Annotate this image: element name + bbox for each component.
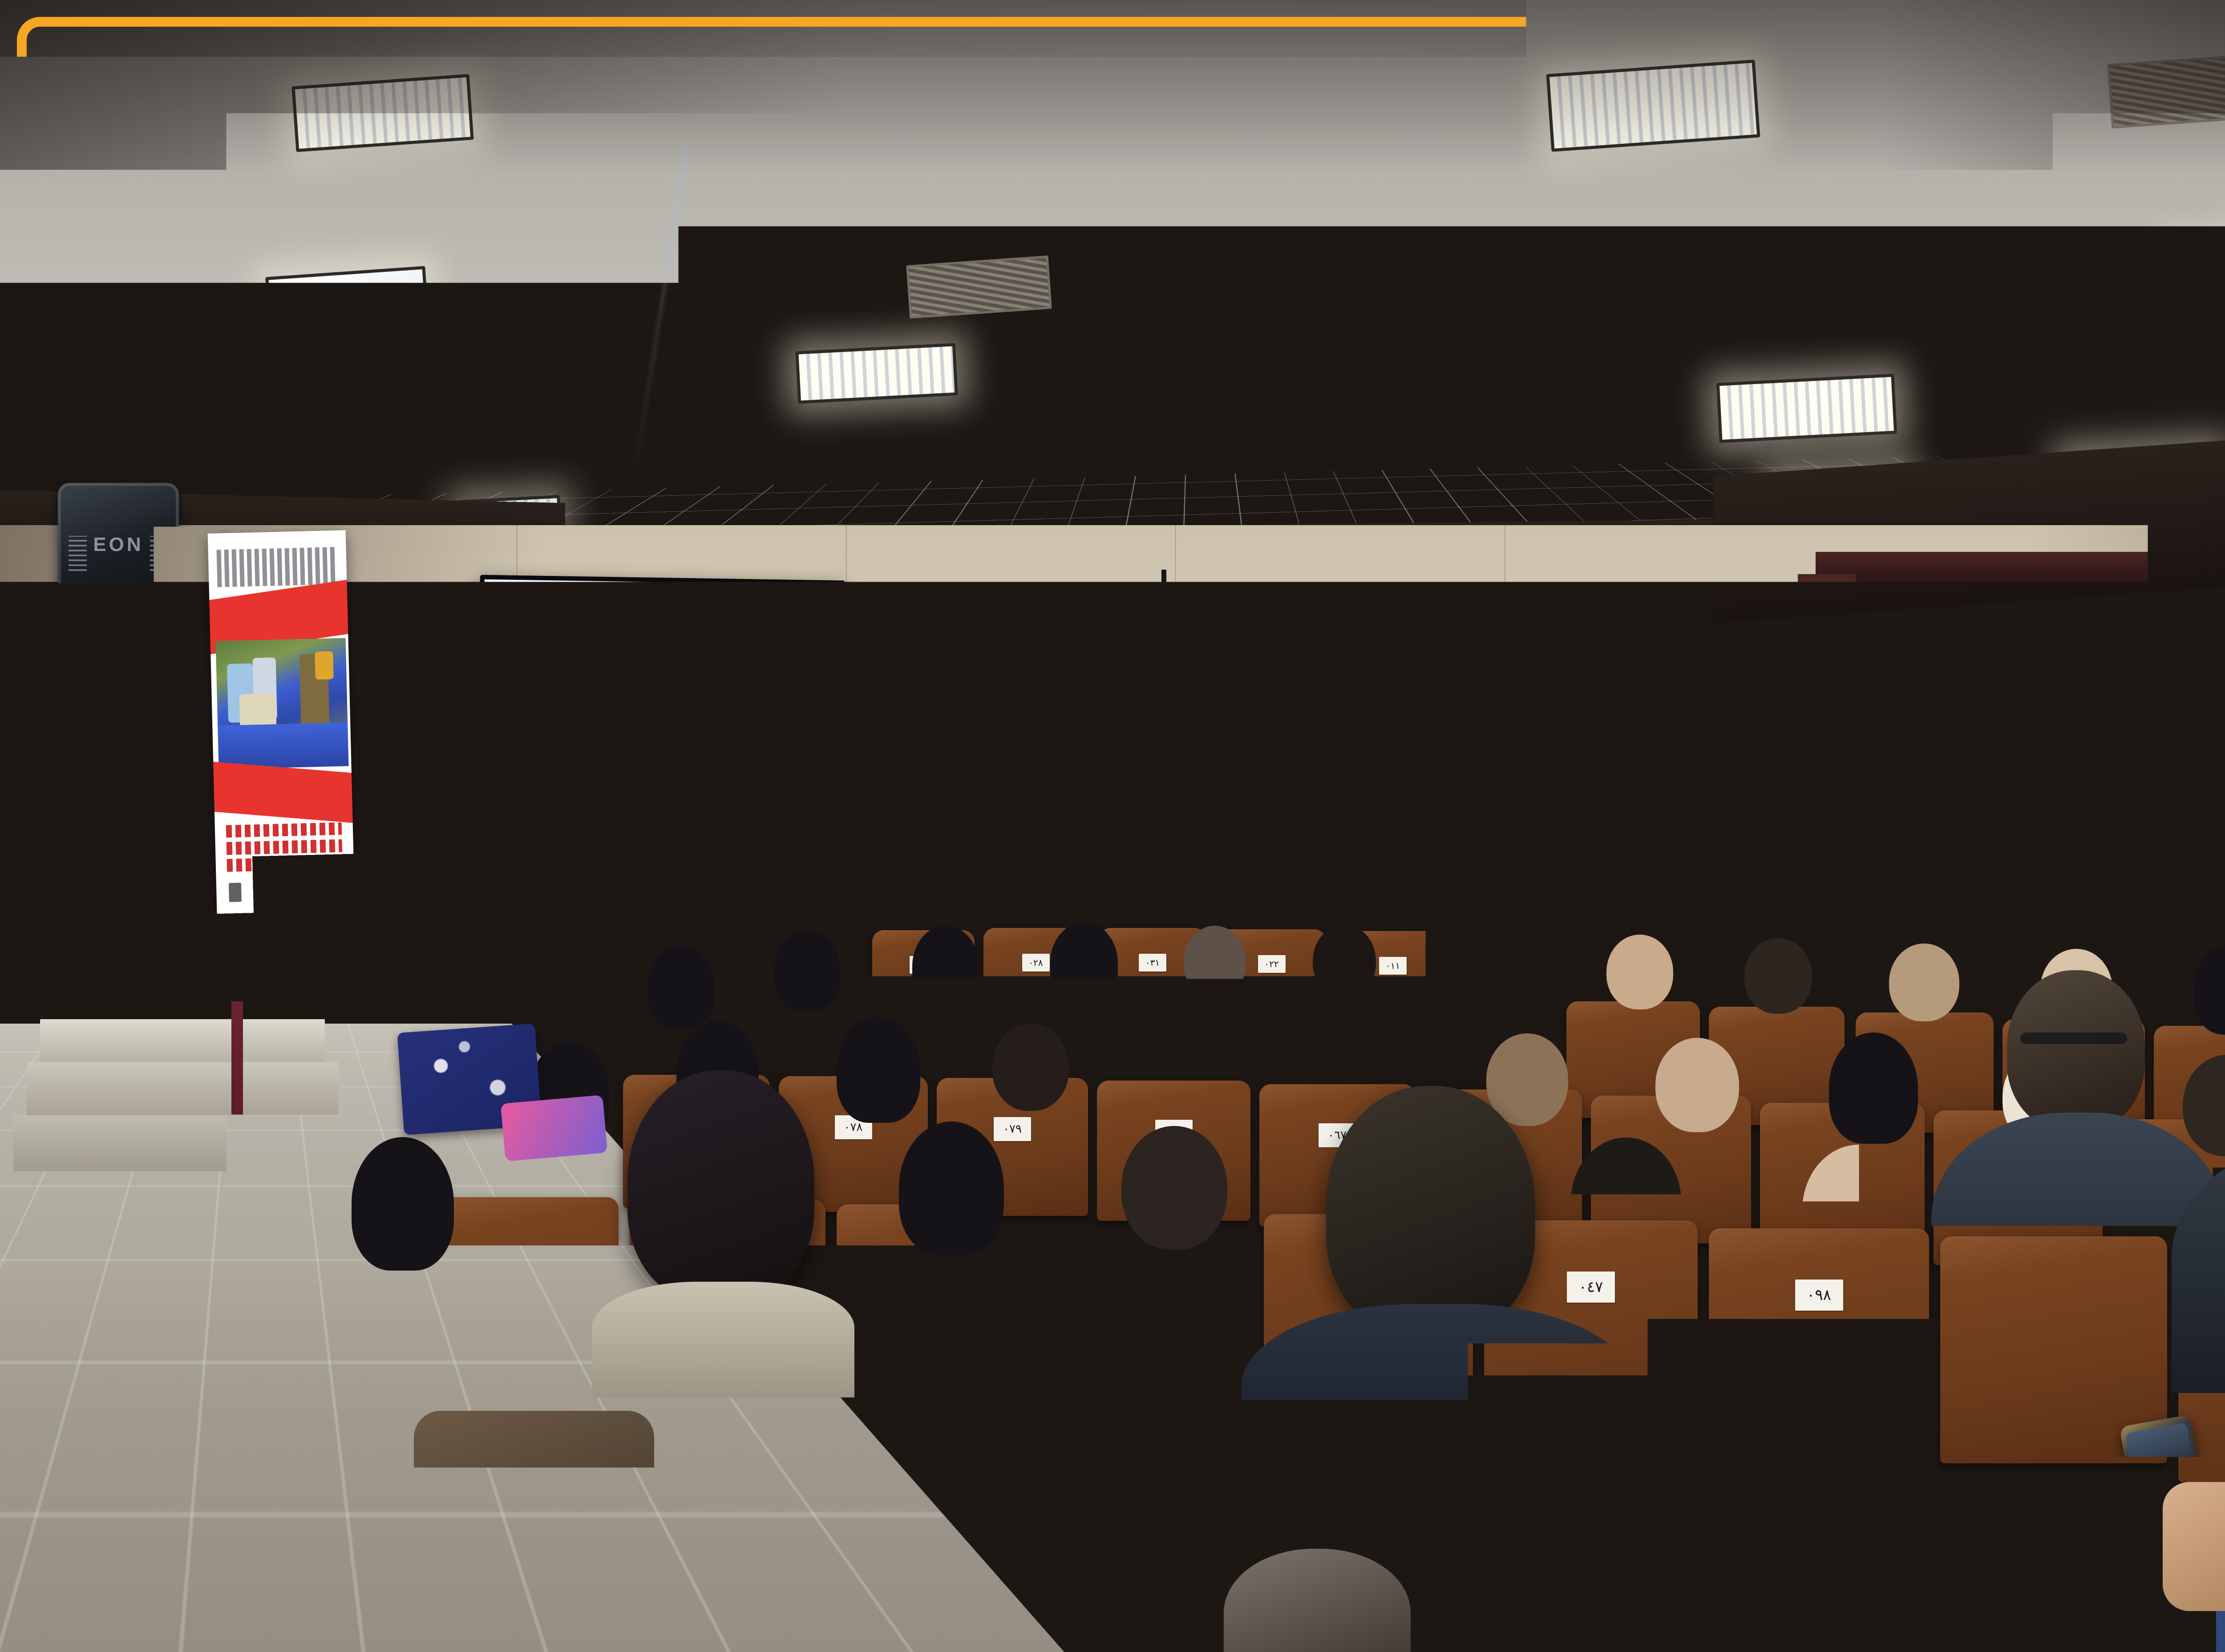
audience-head [828,866,874,919]
seat-number-tag: ٠٥٤ [1064,1019,1095,1040]
foreground-attendee-head [2007,970,2145,1130]
fan-hub [1917,792,1930,808]
speaker-vent [150,536,168,571]
jbl-badge-icon [109,607,128,616]
screen-person-body [502,726,660,794]
screen-person-body [1572,711,1656,761]
seat-number-tag: ٠٢٨ [1022,954,1050,972]
screen-person-head [1584,660,1634,716]
seat-number-tag: ٠٨٤ [1126,1260,1174,1291]
foreground-attendee-head [1326,1086,1535,1335]
audience-headscarf [1050,922,1118,1004]
banner-contact-line [237,924,336,933]
screen-person-body [673,704,838,794]
stage-step [27,1062,338,1115]
audience-headscarf [647,946,714,1028]
audience-head [1606,935,1673,1009]
speaker-mount-bracket [62,625,111,648]
seat-number-tag: ٠٥٣ [931,1018,963,1038]
screen-person-head [696,618,793,716]
audience-head [1867,852,1914,905]
banner-sponsor-logo [254,882,267,901]
seat-number-tag: ٠٥٢ [801,1018,832,1038]
stage-step [40,1019,325,1062]
foreground-attendee-shoulders [1242,1304,1633,1491]
audience-headscarf [837,1017,920,1123]
audience-head [1184,926,1246,997]
ceiling-light-panel [1147,272,1296,328]
banner-photo-ground [218,722,349,769]
photographer-credit-bar: Mahdi salahinejad [0,1464,574,1549]
speaker-brand-label: EON [93,534,143,556]
screen-person-head [542,643,636,737]
banner-title-line [226,822,342,838]
speaker-vent [69,536,87,571]
screen-content-right [1466,636,1657,761]
audience-headscarf [1829,1032,1918,1144]
audience-head [1037,859,1083,911]
seat-number-tag: ٠٤٧ [1567,1271,1615,1303]
seat[interactable]: ٠٨١ [427,1197,619,1384]
audience-head [2074,854,2124,908]
wood-trim-band [1816,552,2225,593]
audience-head [2180,859,2225,915]
audience-head [1517,861,1566,915]
attendee-sleeve [1994,1522,2225,1652]
banner-figure [315,651,333,680]
audience-head [1744,938,1812,1014]
audience-head [1121,1126,1227,1250]
banner-header-text [216,547,339,587]
seat-number-tag: ٠٧٩ [994,1117,1031,1141]
screen-person-body [1481,725,1565,761]
audience-headscarf [730,872,782,935]
audience-head [992,1024,1069,1111]
seat-number-tag: ٠٨١ [499,1248,547,1279]
banner-sponsor-logo [303,881,316,900]
microphone-icon [1333,691,1349,702]
banner-red-band-bottom [208,761,356,823]
seat-number-tag: ٠٨٣ [913,1255,961,1287]
piho-watermark-badge: piho.ir [0,1246,267,1446]
audience-head [1687,858,1731,908]
foreground-attendee-glasses-icon [2020,1032,2127,1044]
nioc-torch-logo-icon [93,1266,186,1368]
audience-head [1773,854,1820,905]
conference-hall-photo: EON [0,0,2225,1652]
audience-head [1571,1138,1681,1266]
audience-head [1486,1033,1568,1126]
photographer-name: Mahdi salahinejad [93,1486,392,1527]
foreground-attendee-head [627,1070,814,1302]
banner-sponsor-logo [229,883,242,902]
piho-site-label: piho.ir [70,1374,209,1427]
banner-sponsor-logo [328,880,341,899]
ceiling-light-panel [1716,374,1897,443]
audience-head [1889,943,1959,1021]
lectern-laptop[interactable] [1375,734,1464,789]
audience-head [1157,1026,1235,1115]
seat-number-tag: ٠٣١ [1139,954,1166,972]
stage-step [0,1178,365,1244]
banner-contact-line [236,911,336,921]
audience-head [1655,1038,1739,1132]
banner-sponsor-logo [278,881,291,900]
banner-contact-line [237,936,336,946]
screen-content-left [481,579,840,794]
seat-number-tag: ٠٢٢ [1258,955,1286,973]
stage-step-railing [231,1001,243,1251]
audience-headscarf [912,926,979,1007]
banner-title-line [226,839,342,855]
hvac-vent [906,255,1052,319]
stage-step [13,1115,352,1178]
audience-headscarf [899,1122,1004,1255]
audience-headscarf [352,1137,454,1271]
wall-mounted-led-screen-left [477,575,845,799]
wall-mounted-led-screen-right [1462,632,1659,765]
audience-headscarf [1962,848,2015,909]
banner-title-line [227,856,343,872]
seat-bag-pink [501,1095,607,1162]
wall-seam [845,525,847,1050]
audience-headscarf [774,930,840,1010]
wall-fan [1898,770,1949,830]
screen-person-head [1500,676,1548,730]
foreground-attendee-collar [592,1282,854,1397]
audience-head [1313,925,1376,997]
seat-number-tag: ٠١١ [1379,957,1407,975]
ceiling-camera-lens [1153,609,1175,624]
banner-photo [216,638,348,769]
screenshot-root: EON [0,0,2225,1652]
screen-reflection [1442,307,1589,414]
lectern-desktop [1304,781,1464,830]
jbl-eon-speaker-left: EON [58,483,179,630]
attendee-head [2067,808,2099,846]
audience-head [1802,1145,1915,1275]
event-roll-up-banner [208,530,356,947]
seat-number-tag: ٠٩٨ [1795,1279,1843,1311]
audience-head [1428,866,1477,921]
